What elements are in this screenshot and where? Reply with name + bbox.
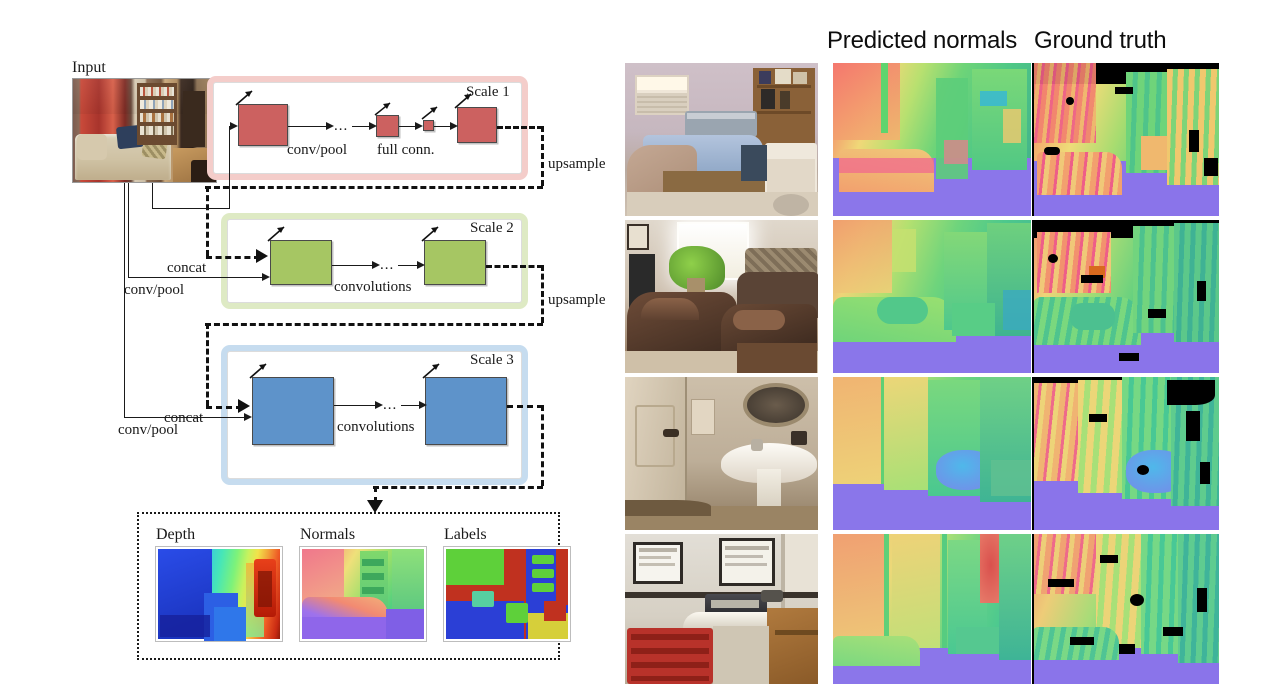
- scale-1-block-a: [238, 104, 288, 146]
- architecture-diagram: Input Scal: [0, 0, 600, 686]
- pred-gt-divider: [1032, 534, 1034, 684]
- scale-2-ellipsis: ...: [380, 257, 394, 274]
- scale-2-title: Scale 2: [470, 221, 514, 236]
- scale2-to-scale3-vline: [206, 323, 209, 406]
- scale2-upsample-vline: [541, 265, 544, 323]
- normal-map-thumbnail: [299, 546, 427, 642]
- kernel-tick-icon: [372, 100, 394, 118]
- scale3-arrow-2: [401, 405, 421, 406]
- arrowhead-icon: [230, 122, 238, 130]
- scale-2-block-b: [424, 240, 486, 285]
- depth-map-thumbnail: [155, 546, 283, 642]
- scale3-concat-label: concat: [164, 411, 203, 426]
- scale-1-op-convpool: conv/pool: [287, 143, 347, 158]
- output-label-labels: Labels: [444, 527, 487, 543]
- scale-3-block-b: [425, 377, 507, 445]
- kernel-tick-icon: [419, 224, 443, 244]
- scale2-concat-feed: [206, 256, 260, 259]
- input-to-scale1-hline: [152, 208, 230, 209]
- kernel-tick-icon: [247, 361, 271, 381]
- scale-1-block-d: [457, 107, 497, 143]
- scale2-to-scale3-hline: [205, 323, 543, 326]
- arrowhead-icon: [450, 122, 458, 130]
- scale-3-ellipsis: ...: [383, 397, 397, 414]
- arrowhead-icon: [238, 399, 250, 413]
- scale3-concat-feed: [206, 406, 242, 409]
- scale1-upsample-label: upsample: [548, 157, 606, 172]
- rgb-image-bathroom: [625, 377, 818, 530]
- scale-3-title: Scale 3: [470, 353, 514, 368]
- predicted-normals-bathroom: [833, 377, 1031, 530]
- scale-2-block-a: [270, 240, 332, 285]
- scale2-upsample-hline: [486, 265, 543, 268]
- scale1-upsample-vline: [541, 126, 544, 186]
- ground-truth-normals-bedroom: [1033, 63, 1219, 216]
- output-label-normals: Normals: [300, 527, 355, 543]
- arrowhead-icon: [326, 122, 334, 130]
- scale1-upsample-hline: [497, 126, 543, 129]
- predicted-normals-bedroom: [833, 63, 1031, 216]
- figure-canvas: Input Scal: [0, 0, 1280, 686]
- arrowhead-icon: [417, 261, 425, 269]
- scale2-upsample-label: upsample: [548, 293, 606, 308]
- outputs-feed-hline: [373, 486, 543, 489]
- input-to-scale2-vline: [128, 183, 129, 278]
- scale3-out-hline: [507, 405, 543, 408]
- ground-truth-normals-living-room: [1033, 220, 1219, 373]
- arrowhead-icon: [369, 122, 377, 130]
- scale1-to-scale2-vline: [206, 186, 209, 256]
- input-label: Input: [72, 60, 106, 76]
- arrowhead-icon: [262, 273, 270, 281]
- input-thumbnail: [72, 78, 217, 183]
- kernel-tick-icon: [233, 88, 257, 108]
- arrowhead-icon: [256, 249, 268, 263]
- scale1-to-scale2-hline: [205, 186, 543, 189]
- arrowhead-icon: [415, 122, 423, 130]
- scale2-arrow-2: [398, 265, 419, 266]
- output-label-depth: Depth: [156, 527, 195, 543]
- pred-gt-divider: [1032, 220, 1034, 373]
- rgb-image-bedroom: [625, 63, 818, 216]
- input-to-scale1-vline2: [229, 126, 230, 208]
- rgb-image-office: [625, 534, 818, 684]
- input-to-scale3-vline: [124, 183, 125, 417]
- scale3-arrow-1: [334, 405, 378, 406]
- label-map-thumbnail: [443, 546, 571, 642]
- scale-1-ellipsis: ...: [334, 118, 348, 135]
- results-panel: Predicted normals Ground truth: [600, 0, 1280, 686]
- kernel-tick-icon: [265, 224, 289, 244]
- scale2-concat-label: concat: [167, 261, 206, 276]
- ground-truth-normals-bathroom: [1033, 377, 1219, 530]
- input-to-scale2-hline: [128, 277, 266, 278]
- scale2-feed-label: conv/pool: [124, 283, 184, 298]
- column-header-predicted-normals: Predicted normals: [827, 27, 1017, 55]
- arrowhead-icon: [419, 401, 427, 409]
- arrowhead-icon: [372, 261, 380, 269]
- scale1-arrow-1: [288, 126, 328, 127]
- column-header-ground-truth: Ground truth: [1034, 27, 1166, 55]
- rgb-image-living-room: [625, 220, 818, 373]
- arrowhead-icon: [244, 413, 252, 421]
- scale3-out-vline: [541, 405, 544, 486]
- kernel-tick-icon: [419, 104, 441, 122]
- scale-1-block-b: [376, 115, 399, 137]
- ground-truth-normals-office: [1033, 534, 1219, 684]
- input-to-scale1-vline: [152, 183, 153, 208]
- kernel-tick-icon: [420, 361, 444, 381]
- scale-2-op-convolutions: convolutions: [334, 280, 412, 295]
- kernel-tick-icon: [452, 91, 476, 111]
- scale2-arrow-1: [332, 265, 374, 266]
- scale-1-op-fullconn: full conn.: [377, 143, 435, 158]
- predicted-normals-office: [833, 534, 1031, 684]
- pred-gt-divider: [1032, 63, 1034, 216]
- arrowhead-icon: [375, 401, 383, 409]
- scale-3-op-convolutions: convolutions: [337, 420, 415, 435]
- pred-gt-divider: [1032, 377, 1034, 530]
- scale-3-block-a: [252, 377, 334, 445]
- predicted-normals-living-room: [833, 220, 1031, 373]
